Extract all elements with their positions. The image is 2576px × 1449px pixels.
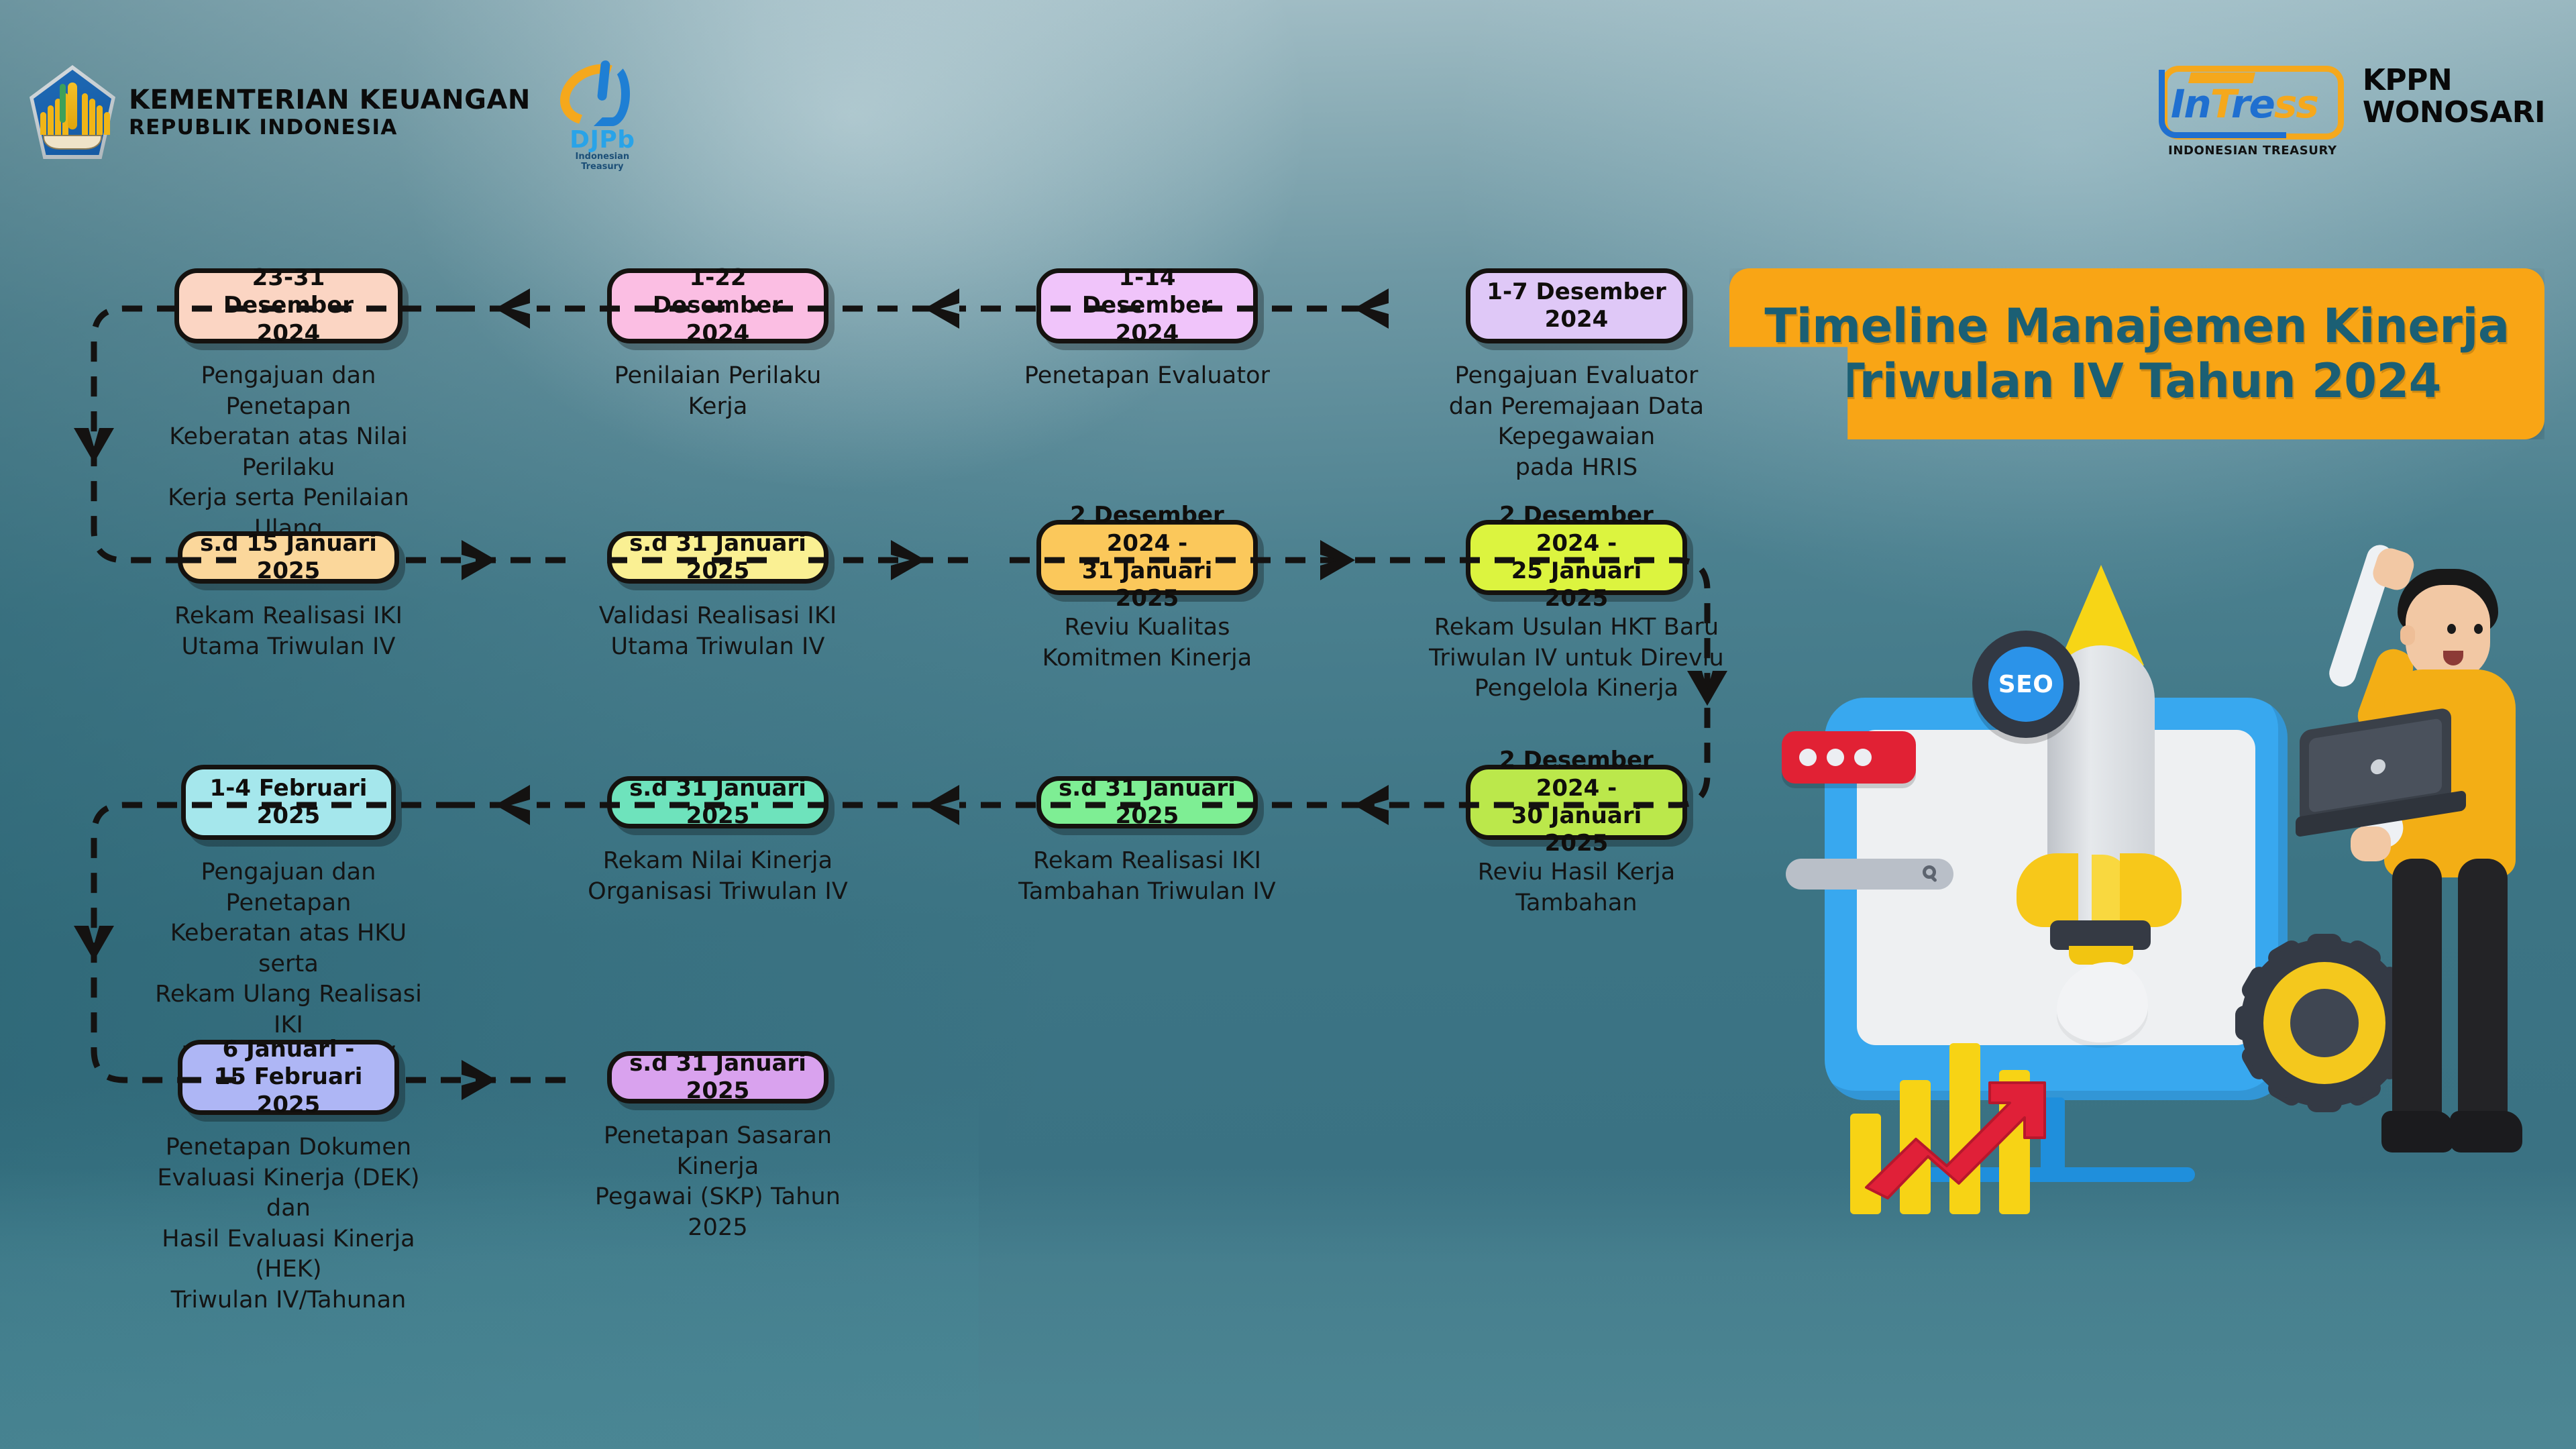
timeline-caption-line: Hasil Evaluasi Kinerja (HEK) xyxy=(141,1224,436,1285)
timeline-date-pill: 6 Januari -15 Februari 2025 xyxy=(178,1040,399,1115)
timeline-date-line: 23-31 Desember xyxy=(191,264,386,320)
timeline-caption-line: Keberatan atas HKU serta xyxy=(141,918,436,979)
timeline-node: 2 Desember 2024 -25 Januari 2025Rekam Us… xyxy=(1429,520,1724,704)
timeline-date-line: s.d 31 Januari 2025 xyxy=(624,775,812,830)
timeline-caption-line: Organisasi Triwulan IV xyxy=(570,877,865,908)
timeline-date-pill: s.d 15 Januari 2025 xyxy=(178,531,399,584)
timeline-date-line: s.d 31 Januari 2025 xyxy=(1053,775,1241,830)
seo-badge-label: SEO xyxy=(1988,647,2063,722)
timeline-caption: Rekam Realisasi IKIUtama Triwulan IV xyxy=(141,601,436,662)
timeline-date-line: 2 Desember 2024 - xyxy=(1053,502,1241,557)
timeline-date-pill: 1-22 Desember2024 xyxy=(607,268,828,343)
page-title-line1: Timeline Manajemen Kinerja xyxy=(1764,299,2509,354)
timeline-caption-line: Rekam Nilai Kinerja xyxy=(570,846,865,877)
timeline-node: s.d 31 Januari 2025Validasi Realisasi IK… xyxy=(570,531,865,662)
timeline-node: s.d 31 Januari 2025Penetapan Sasaran Kin… xyxy=(570,1051,865,1243)
timeline-date-line: 30 Januari 2025 xyxy=(1483,802,1670,858)
intress-frame-icon: InTress INDONESIAN TREASURY xyxy=(2161,64,2348,165)
laptop-icon xyxy=(2296,719,2470,833)
intress-wordmark: InTress xyxy=(2171,79,2339,129)
timeline-date-pill: s.d 31 Januari 2025 xyxy=(607,1051,828,1104)
timeline-caption-line: Rekam Usulan HKT Baru xyxy=(1429,612,1724,643)
red-growth-arrow-icon xyxy=(1858,1073,2053,1201)
timeline-caption-line: Pengelola Kinerja xyxy=(1429,674,1724,704)
timeline-caption-line: Pengajuan dan Penetapan xyxy=(141,857,436,918)
office-name-line2: WONOSARI xyxy=(2363,98,2545,127)
timeline-date-pill: 1-7 Desember2024 xyxy=(1466,268,1687,343)
timeline-caption-line: Utama Triwulan IV xyxy=(570,632,865,663)
timeline-date-line: 2024 xyxy=(191,320,386,347)
timeline-caption-line: Pengajuan dan Penetapan xyxy=(141,361,436,422)
timeline-caption-line: Keberatan atas Nilai Perilaku xyxy=(141,422,436,483)
timeline-caption-line: Rekam Realisasi IKI xyxy=(1000,846,1295,877)
timeline-date-line: 2 Desember 2024 - xyxy=(1483,502,1670,557)
timeline-date-line: 1-7 Desember xyxy=(1487,278,1666,306)
person-with-laptop-icon xyxy=(2328,523,2569,1201)
timeline-date-line: s.d 15 Januari 2025 xyxy=(195,530,382,586)
timeline-date-line: 2024 xyxy=(1487,306,1666,333)
timeline-node: 1-4 Februari2025Pengajuan dan PenetapanK… xyxy=(141,765,436,1071)
timeline-caption: Pengajuan Evaluatordan Peremajaan DataKe… xyxy=(1429,361,1724,483)
timeline-node: 1-14 Desember2024Penetapan Evaluator xyxy=(1000,268,1295,392)
timeline-caption: Validasi Realisasi IKIUtama Triwulan IV xyxy=(570,601,865,662)
page-title-line2: Triwulan IV Tahun 2024 xyxy=(1833,354,2441,409)
timeline-node: 1-7 Desember2024Pengajuan Evaluatordan P… xyxy=(1429,268,1724,483)
timeline-caption: Rekam Realisasi IKITambahan Triwulan IV xyxy=(1000,846,1295,907)
timeline-date-line: 1-14 Desember xyxy=(1053,264,1241,320)
timeline-caption-line: Kepegawaian xyxy=(1429,422,1724,453)
timeline-date-line: s.d 31 Januari 2025 xyxy=(624,530,812,586)
timeline-caption-line: Rekam Ulang Realisasi IKI xyxy=(141,979,436,1040)
timeline-date-pill: 2 Desember 2024 -25 Januari 2025 xyxy=(1466,520,1687,595)
timeline-caption-line: Evaluasi Kinerja (DEK) dan xyxy=(141,1163,436,1224)
timeline-caption-line: Penetapan Sasaran Kinerja xyxy=(570,1121,865,1182)
timeline-node: 23-31 Desember2024Pengajuan dan Penetapa… xyxy=(141,268,436,575)
timeline-date-pill: 2 Desember 2024 -30 Januari 2025 xyxy=(1466,765,1687,840)
timeline-date-pill: s.d 31 Januari 2025 xyxy=(607,531,828,584)
timeline-caption-line: pada HRIS xyxy=(1429,453,1724,484)
timeline-date-line: s.d 31 Januari 2025 xyxy=(624,1050,812,1106)
timeline-date-pill: 1-4 Februari2025 xyxy=(181,765,396,840)
office-logo-group: InTress INDONESIAN TREASURY KPPN WONOSAR… xyxy=(2161,64,2545,165)
timeline-caption-line: Reviu Hasil Kerja Tambahan xyxy=(1429,857,1724,918)
timeline-node: s.d 31 Januari 2025Rekam Realisasi IKITa… xyxy=(1000,776,1295,907)
timeline-date-line: 6 Januari - xyxy=(195,1036,382,1063)
timeline-date-line: 2025 xyxy=(210,802,368,830)
timeline-caption-line: Kerja xyxy=(570,392,865,423)
timeline-caption-line: Utama Triwulan IV xyxy=(141,632,436,663)
timeline-date-line: 31 Januari 2025 xyxy=(1053,557,1241,613)
timeline-caption: Penetapan DokumenEvaluasi Kinerja (DEK) … xyxy=(141,1132,436,1316)
seo-rocket-illustration: SEO xyxy=(1771,510,2576,1355)
timeline-date-pill: s.d 31 Januari 2025 xyxy=(607,776,828,828)
timeline-caption: Penetapan Sasaran KinerjaPegawai (SKP) T… xyxy=(570,1121,865,1243)
timeline-caption-line: Reviu Kualitas xyxy=(1000,612,1295,643)
timeline-node: 1-22 Desember2024Penilaian PerilakuKerja xyxy=(570,268,865,422)
timeline-caption-line: Komitmen Kinerja xyxy=(1000,643,1295,674)
timeline-date-line: 1-4 Februari xyxy=(210,775,368,802)
timeline-node: 2 Desember 2024 -30 Januari 2025Reviu Ha… xyxy=(1429,765,1724,918)
timeline-caption-line: Penetapan Evaluator xyxy=(1000,361,1295,392)
timeline-caption-line: Triwulan IV untuk Direviu xyxy=(1429,643,1724,674)
page-title-banner: Timeline Manajemen Kinerja Triwulan IV T… xyxy=(1729,268,2544,439)
search-bar-icon xyxy=(1786,859,1953,890)
timeline-date-line: 15 Februari 2025 xyxy=(195,1063,382,1119)
timeline-date-pill: 2 Desember 2024 -31 Januari 2025 xyxy=(1036,520,1258,595)
timeline-date-line: 2024 xyxy=(1053,320,1241,347)
timeline-node: 2 Desember 2024 -31 Januari 2025Reviu Ku… xyxy=(1000,520,1295,674)
timeline-caption: Penilaian PerilakuKerja xyxy=(570,361,865,422)
timeline-node: s.d 31 Januari 2025Rekam Nilai KinerjaOr… xyxy=(570,776,865,907)
timeline-caption-line: Penilaian Perilaku xyxy=(570,361,865,392)
timeline-flow: 23-31 Desember2024Pengajuan dan Penetapa… xyxy=(0,0,1771,1449)
magnifier-icon xyxy=(1923,865,1936,879)
timeline-caption: Rekam Usulan HKT BaruTriwulan IV untuk D… xyxy=(1429,612,1724,704)
timeline-caption: Reviu Hasil Kerja Tambahan xyxy=(1429,857,1724,918)
timeline-date-line: 2 Desember 2024 - xyxy=(1483,747,1670,802)
timeline-caption: Rekam Nilai KinerjaOrganisasi Triwulan I… xyxy=(570,846,865,907)
timeline-date-pill: s.d 31 Januari 2025 xyxy=(1036,776,1258,828)
timeline-caption-line: Tambahan Triwulan IV xyxy=(1000,877,1295,908)
timeline-date-line: 2024 xyxy=(624,320,812,347)
timeline-caption-line: Penetapan Dokumen xyxy=(141,1132,436,1163)
timeline-date-pill: 23-31 Desember2024 xyxy=(174,268,402,343)
timeline-caption-line: dan Peremajaan Data xyxy=(1429,392,1724,423)
timeline-date-line: 25 Januari 2025 xyxy=(1483,557,1670,613)
timeline-date-pill: 1-14 Desember2024 xyxy=(1036,268,1258,343)
timeline-node: s.d 15 Januari 2025Rekam Realisasi IKIUt… xyxy=(141,531,436,662)
timeline-node: 6 Januari -15 Februari 2025Penetapan Dok… xyxy=(141,1040,436,1316)
timeline-caption-line: Triwulan IV/Tahunan xyxy=(141,1285,436,1316)
timeline-date-line: 1-22 Desember xyxy=(624,264,812,320)
rocket-icon xyxy=(2019,565,2187,994)
red-toolbar-icon xyxy=(1782,731,1916,784)
timeline-caption: Penetapan Evaluator xyxy=(1000,361,1295,392)
timeline-caption-line: Rekam Realisasi IKI xyxy=(141,601,436,632)
office-name-line1: KPPN xyxy=(2363,66,2545,95)
intress-subtitle: INDONESIAN TREASURY xyxy=(2161,144,2344,158)
timeline-caption-line: Pegawai (SKP) Tahun 2025 xyxy=(570,1182,865,1243)
timeline-caption-line: Pengajuan Evaluator xyxy=(1429,361,1724,392)
timeline-caption: Reviu KualitasKomitmen Kinerja xyxy=(1000,612,1295,674)
timeline-caption-line: Validasi Realisasi IKI xyxy=(570,601,865,632)
seo-badge-icon: SEO xyxy=(1972,631,2080,738)
